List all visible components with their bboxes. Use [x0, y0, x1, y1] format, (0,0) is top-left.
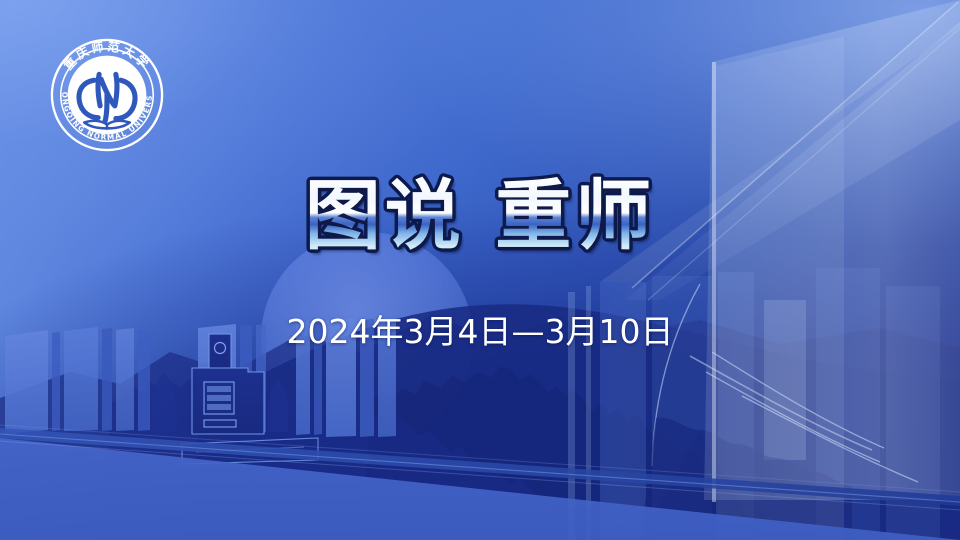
- title-slide: 重庆师范大学 CHONGQING NORMAL UNIVERSITY: [0, 0, 960, 540]
- title-fill: 图说 重师: [305, 171, 655, 260]
- page-title: 图说 重师 图说 重师: [0, 166, 960, 270]
- university-logo: 重庆师范大学 CHONGQING NORMAL UNIVERSITY: [38, 35, 176, 155]
- date-range: 2024年3月4日—3月10日: [0, 305, 960, 353]
